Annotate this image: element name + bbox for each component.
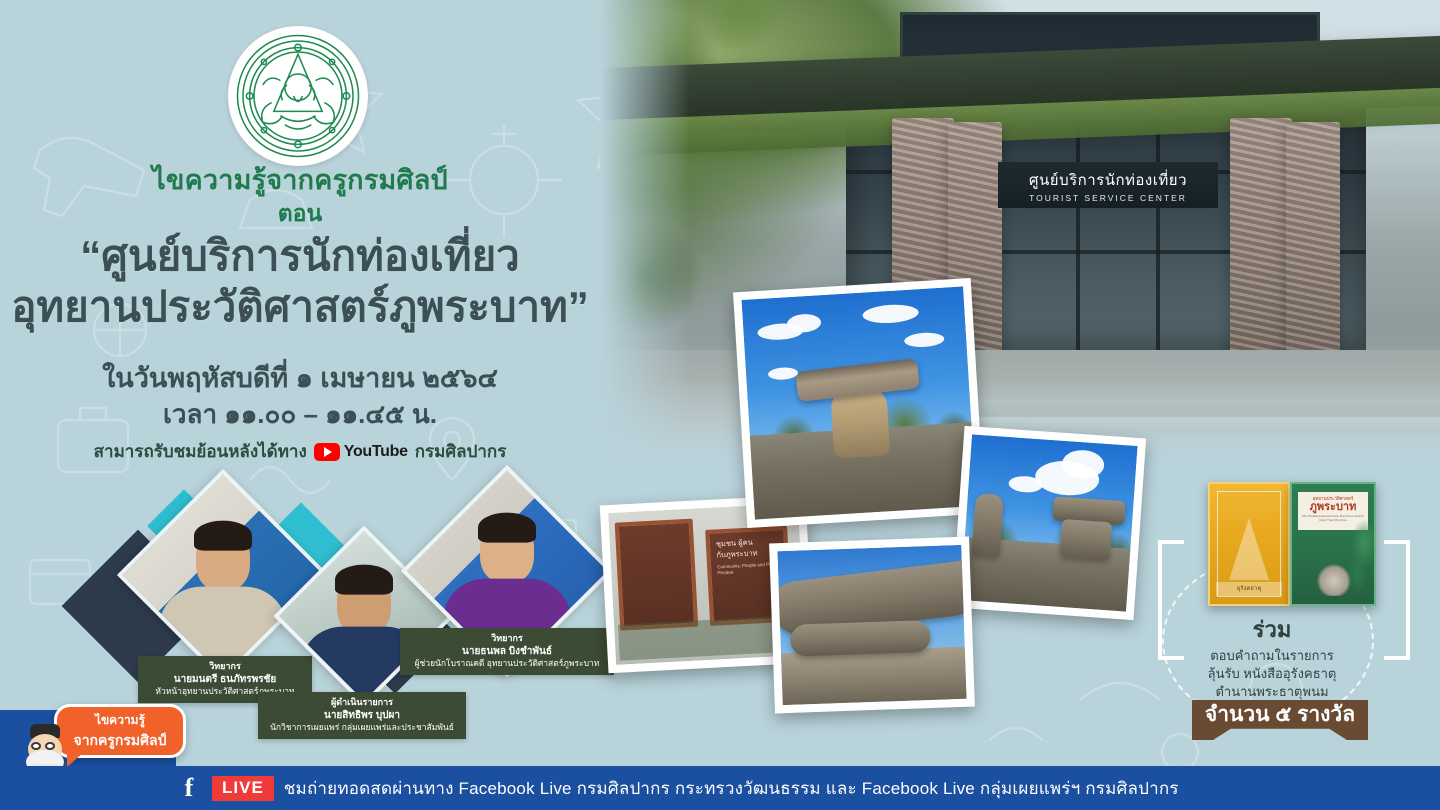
facebook-icon[interactable]: f (176, 774, 202, 802)
live-badge: LIVE (212, 776, 274, 801)
bubble-line-2: จากครูกรมศิลป์ (73, 730, 166, 752)
speaker-name: นายสิทธิพร บุปผา (266, 709, 458, 722)
fine-arts-department-emblem (228, 26, 368, 166)
mascot-speech-bubble: ไขความรู้ จากครูกรมศิลป์ (54, 704, 186, 758)
speaker-org: นักวิชาการเผยแพร่ กลุ่มเผยแพร่และประชาสั… (266, 722, 458, 733)
prize-count-ribbon: จำนวน ๕ รางวัล (1192, 700, 1368, 740)
photo-hor-nang-usa (733, 278, 985, 528)
youtube-play-icon (314, 443, 340, 461)
poster-root: ศูนย์บริการนักท่องเที่ยว TOURIST SERVICE… (0, 0, 1440, 810)
prize-line-3: ตำนานพระธาตุพนม (1182, 683, 1362, 701)
quote-open: “ (80, 232, 101, 279)
speaker-role: วิทยากร (146, 661, 304, 673)
speaker-name: นายธนพล บิงชำพันธ์ (408, 645, 606, 658)
ganesha-emblem-icon (232, 30, 364, 162)
youtube-badge[interactable]: YouTube (314, 443, 408, 461)
speaker-portrait (117, 469, 329, 681)
episode-label: ตอน (0, 196, 600, 232)
prize-line-2: ลุ้นรับ หนังสืออุรังคธาตุ (1182, 665, 1362, 683)
speaker-card-1 (148, 500, 298, 650)
bubble-line-1: ไขความรู้ (95, 711, 145, 730)
replay-prefix: สามารถรับชมย้อนหลังได้ทาง (94, 438, 307, 465)
book-green-title: ภูพระบาท (1298, 502, 1368, 513)
title-line-2: อุทยานประวัติศาสตร์ภูพระบาท (11, 283, 568, 330)
youtube-wordmark: YouTube (344, 443, 408, 461)
quote-close: ” (568, 283, 589, 330)
prize-text-block: ร่วม ตอบคำถามในรายการ ลุ้นรับ หนังสืออุร… (1182, 612, 1362, 702)
sign-thai-text: ศูนย์บริการนักท่องเที่ยว (1029, 168, 1187, 192)
hero-building-photo: ศูนย์บริการนักท่องเที่ยว TOURIST SERVICE… (600, 0, 1440, 470)
prize-join-word: ร่วม (1182, 612, 1362, 647)
bottom-live-bar: f LIVE ชมถ่ายทอดสดผ่านทาง Facebook Live … (0, 766, 1440, 810)
event-time: เวลา ๑๑.๐๐ – ๑๑.๔๕ น. (0, 394, 600, 435)
program-name: ไขความรู้จากครูกรมศิลป์ (0, 158, 600, 201)
book-gold-title: อุรังคธาตุ (1216, 582, 1282, 596)
tourist-service-center-sign: ศูนย์บริการนักท่องเที่ยว TOURIST SERVICE… (998, 162, 1218, 208)
speaker-name: นายมนตรี ธนภัทรพรชัย (146, 673, 304, 686)
speaker-org: ผู้ช่วยนักโบราณคดี อุทยานประวัติศาสตร์ภู… (408, 658, 606, 669)
book-urangkhathat: อุรังคธาตุ (1208, 482, 1290, 606)
speaker-label-3: วิทยากร นายธนพล บิงชำพันธ์ ผู้ช่วยนักโบร… (400, 628, 614, 675)
prize-bracket-right (1384, 540, 1410, 660)
replay-suffix: กรมศิลปากร (415, 438, 507, 465)
event-date: ในวันพฤหัสบดีที่ ๑ เมษายน ๒๕๖๔ (0, 356, 600, 399)
photo-rock-formations (952, 426, 1146, 620)
speaker-role: วิทยากร (408, 633, 606, 645)
speaker-card-3 (432, 496, 582, 646)
sign-english-text: TOURIST SERVICE CENTER (1029, 193, 1187, 203)
broadcast-info-text: ชมถ่ายทอดสดผ่านทาง Facebook Live กรมศิลป… (284, 775, 1179, 802)
prize-count-text: จำนวน ๕ รางวัล (1205, 700, 1355, 730)
replay-line: สามารถรับชมย้อนหลังได้ทาง YouTube กรมศิล… (0, 438, 600, 465)
title-line-1: ศูนย์บริการนักท่องเที่ยว (101, 232, 520, 279)
photo-rock-overhang (769, 537, 975, 714)
prize-bracket-left (1158, 540, 1184, 660)
book-phu-phrabat: อุทยานประวัติศาสตร์ ภูพระบาท Phu Phrabat… (1290, 482, 1376, 606)
page-title: “ศูนย์บริการนักท่องเที่ยว อุทยานประวัติศ… (0, 230, 600, 332)
exhibit-board-left (615, 519, 699, 631)
speaker-label-2: ผู้ดำเนินรายการ นายสิทธิพร บุปผา นักวิชา… (258, 692, 466, 739)
speaker-role: ผู้ดำเนินรายการ (266, 697, 458, 709)
prize-line-1: ตอบคำถามในรายการ (1182, 647, 1362, 665)
